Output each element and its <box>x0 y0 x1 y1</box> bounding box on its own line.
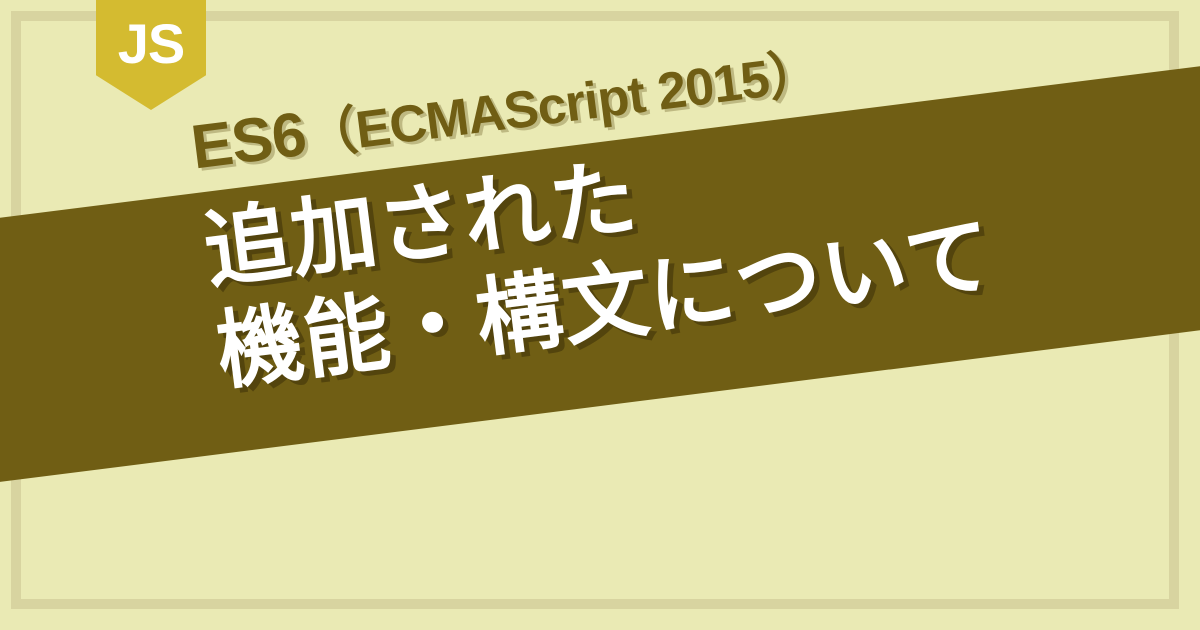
js-badge-label: JS <box>118 16 185 72</box>
subtitle-prefix: ES6 <box>187 100 309 183</box>
js-shield-icon: JS <box>96 0 206 110</box>
article-eyecatch-banner: JS ES6（ECMAScript 2015） 追加された 機能・構文について <box>0 0 1200 630</box>
